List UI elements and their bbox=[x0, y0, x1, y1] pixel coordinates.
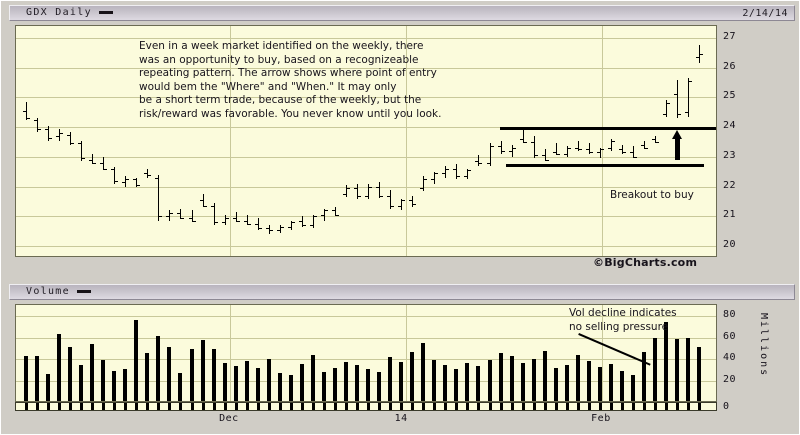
volume-bar bbox=[388, 357, 392, 401]
ohlc-open-tick bbox=[652, 139, 655, 140]
x-tick bbox=[356, 403, 359, 410]
ohlc-open-tick bbox=[288, 227, 291, 228]
volume-axis-label: 60 bbox=[723, 332, 736, 342]
ohlc-open-tick bbox=[67, 135, 70, 136]
ohlc-open-tick bbox=[200, 200, 203, 201]
volume-bar bbox=[410, 352, 414, 401]
ohlc-open-tick bbox=[255, 224, 258, 225]
ohlc-open-tick bbox=[553, 152, 556, 153]
volume-bar bbox=[355, 365, 359, 401]
ohlc-bar bbox=[368, 184, 369, 199]
ohlc-close-tick bbox=[689, 81, 692, 82]
ohlc-open-tick bbox=[542, 155, 545, 156]
volume-axis-label-zero: 0 bbox=[723, 401, 729, 412]
ohlc-open-tick bbox=[45, 129, 48, 130]
x-tick bbox=[345, 403, 348, 410]
price-axis-label: 23 bbox=[723, 151, 736, 161]
ohlc-open-tick bbox=[133, 179, 136, 180]
ohlc-close-tick bbox=[292, 222, 295, 223]
ohlc-close-tick bbox=[325, 210, 328, 211]
price-gridline bbox=[16, 246, 716, 247]
annotation-line: repeating pattern. The arrow shows where… bbox=[139, 67, 441, 81]
x-tick bbox=[279, 403, 282, 410]
price-gridline bbox=[16, 157, 716, 158]
ohlc-open-tick bbox=[674, 94, 677, 95]
ohlc-open-tick bbox=[420, 188, 423, 189]
x-tick bbox=[577, 403, 580, 410]
x-tick bbox=[323, 403, 326, 410]
ohlc-open-tick bbox=[575, 148, 578, 149]
ohlc-open-tick bbox=[509, 151, 512, 152]
ohlc-close-tick bbox=[513, 148, 516, 149]
x-tick bbox=[334, 403, 337, 410]
ohlc-close-tick bbox=[126, 179, 129, 180]
ohlc-close-tick bbox=[468, 170, 471, 171]
price-axis-label: 21 bbox=[723, 210, 736, 220]
volume-bar bbox=[532, 359, 536, 401]
volume-bar bbox=[24, 356, 28, 401]
ohlc-close-tick bbox=[656, 142, 659, 143]
ohlc-open-tick bbox=[685, 112, 688, 113]
month-separator bbox=[602, 26, 603, 256]
x-tick bbox=[466, 403, 469, 410]
annotation-line: was an opportunity to buy, based on a re… bbox=[139, 54, 441, 68]
ohlc-close-tick bbox=[347, 188, 350, 189]
ohlc-bar bbox=[225, 215, 226, 225]
ohlc-close-tick bbox=[159, 216, 162, 217]
x-tick bbox=[555, 403, 558, 410]
ohlc-close-tick bbox=[579, 149, 582, 150]
ohlc-close-tick bbox=[413, 204, 416, 205]
ohlc-open-tick bbox=[442, 173, 445, 174]
ohlc-open-tick bbox=[277, 230, 280, 231]
ohlc-close-tick bbox=[270, 230, 273, 231]
ohlc-close-tick bbox=[115, 181, 118, 182]
ohlc-open-tick bbox=[89, 160, 92, 161]
ohlc-bar bbox=[158, 175, 159, 221]
ohlc-close-tick bbox=[502, 151, 505, 152]
ohlc-close-tick bbox=[71, 143, 74, 144]
ohlc-close-tick bbox=[193, 221, 196, 222]
ohlc-close-tick bbox=[49, 138, 52, 139]
volume-axis-label: 20 bbox=[723, 375, 736, 385]
volume-bar bbox=[112, 371, 116, 401]
volume-bar bbox=[212, 349, 216, 401]
x-tick bbox=[599, 403, 602, 410]
ohlc-close-tick bbox=[204, 206, 207, 207]
x-tick bbox=[301, 403, 304, 410]
x-tick bbox=[202, 403, 205, 410]
x-tick bbox=[588, 403, 591, 410]
volume-bar bbox=[101, 360, 105, 401]
price-axis-label: 25 bbox=[723, 91, 736, 101]
x-tick bbox=[113, 403, 116, 410]
ohlc-bar bbox=[26, 102, 27, 120]
volume-bar bbox=[686, 338, 690, 401]
ohlc-open-tick bbox=[387, 196, 390, 197]
x-tick bbox=[411, 403, 414, 410]
x-tick bbox=[191, 403, 194, 410]
x-tick bbox=[378, 403, 381, 410]
x-axis-tick-strip bbox=[15, 402, 717, 411]
x-tick bbox=[522, 403, 525, 410]
ohlc-close-tick bbox=[336, 215, 339, 216]
volume-bar bbox=[510, 356, 514, 401]
ohlc-open-tick bbox=[23, 111, 26, 112]
x-tick bbox=[687, 403, 690, 410]
ohlc-bar bbox=[346, 185, 347, 197]
ohlc-open-tick bbox=[365, 196, 368, 197]
ohlc-open-tick bbox=[155, 178, 158, 179]
x-tick bbox=[422, 403, 425, 410]
ohlc-bar bbox=[677, 80, 678, 119]
volume-gridline bbox=[16, 359, 716, 360]
annotation-line: Even in a week market identified on the … bbox=[139, 40, 441, 54]
annotation-line: be a short term trade, because of the we… bbox=[139, 94, 441, 108]
ohlc-close-tick bbox=[82, 158, 85, 159]
ohlc-close-tick bbox=[281, 227, 284, 228]
volume-bar bbox=[521, 363, 525, 401]
ohlc-close-tick bbox=[181, 218, 184, 219]
x-axis-label: 14 bbox=[395, 413, 408, 424]
volume-bar bbox=[565, 365, 569, 401]
ohlc-open-tick bbox=[487, 163, 490, 164]
volume-gridline bbox=[16, 338, 716, 339]
x-axis-label: Dec bbox=[219, 413, 239, 424]
ohlc-open-tick bbox=[531, 142, 534, 143]
resistance-line bbox=[500, 127, 716, 130]
ohlc-close-tick bbox=[700, 54, 703, 55]
ohlc-close-tick bbox=[424, 179, 427, 180]
ohlc-open-tick bbox=[586, 149, 589, 150]
ohlc-close-tick bbox=[93, 163, 96, 164]
price-panel-header: GDX Daily 2/14/14 bbox=[9, 5, 795, 21]
ohlc-bar bbox=[169, 210, 170, 220]
ohlc-bar bbox=[147, 169, 148, 178]
volume-bar bbox=[201, 340, 205, 401]
breakout-label: Breakout to buy bbox=[610, 189, 694, 203]
ohlc-close-tick bbox=[215, 222, 218, 223]
x-tick bbox=[643, 403, 646, 410]
volume-panel-header: Volume bbox=[9, 284, 795, 300]
volume-bar bbox=[35, 356, 39, 401]
volume-bar bbox=[675, 339, 679, 401]
price-panel-title: GDX Daily bbox=[10, 8, 113, 18]
ohlc-open-tick bbox=[641, 145, 644, 146]
volume-bar bbox=[333, 368, 337, 401]
volume-axis-units-label: Millions bbox=[758, 313, 769, 377]
volume-bar bbox=[576, 355, 580, 401]
ohlc-close-tick bbox=[137, 185, 140, 186]
ohlc-open-tick bbox=[464, 176, 467, 177]
x-tick bbox=[621, 403, 624, 410]
ohlc-close-tick bbox=[402, 200, 405, 201]
volume-bar bbox=[79, 365, 83, 401]
price-axis-label: 20 bbox=[723, 240, 736, 250]
price-axis-label: 24 bbox=[723, 121, 736, 131]
ohlc-open-tick bbox=[376, 187, 379, 188]
volume-bar bbox=[421, 343, 425, 401]
ohlc-close-tick bbox=[314, 216, 317, 217]
x-tick bbox=[698, 403, 701, 410]
ohlc-close-tick bbox=[226, 218, 229, 219]
x-tick bbox=[610, 403, 613, 410]
ohlc-bar bbox=[688, 78, 689, 117]
ohlc-open-tick bbox=[177, 213, 180, 214]
x-tick bbox=[47, 403, 50, 410]
x-tick bbox=[69, 403, 72, 410]
ohlc-close-tick bbox=[601, 149, 604, 150]
price-gridline bbox=[16, 216, 716, 217]
ohlc-open-tick bbox=[409, 200, 412, 201]
annotation-line: no selling pressure bbox=[569, 320, 677, 334]
ohlc-open-tick bbox=[564, 154, 567, 155]
volume-bar bbox=[443, 365, 447, 401]
x-tick bbox=[224, 403, 227, 410]
volume-bar bbox=[190, 349, 194, 401]
ohlc-open-tick bbox=[498, 146, 501, 147]
ohlc-bar bbox=[445, 166, 446, 178]
ohlc-open-tick bbox=[597, 152, 600, 153]
ohlc-close-tick bbox=[391, 206, 394, 207]
volume-bar bbox=[543, 351, 547, 401]
ohlc-close-tick bbox=[237, 221, 240, 222]
ohlc-close-tick bbox=[667, 103, 670, 104]
ohlc-open-tick bbox=[354, 188, 357, 189]
volume-bar bbox=[587, 361, 591, 401]
ohlc-close-tick bbox=[303, 225, 306, 226]
volume-bar bbox=[554, 368, 558, 401]
ohlc-close-tick bbox=[259, 228, 262, 229]
annotation-line: risk/reward was favorable. You never kno… bbox=[139, 108, 441, 122]
volume-bar bbox=[178, 373, 182, 401]
ohlc-open-tick bbox=[111, 169, 114, 170]
volume-bar bbox=[465, 363, 469, 401]
x-tick bbox=[665, 403, 668, 410]
ohlc-open-tick bbox=[34, 120, 37, 121]
ohlc-close-tick bbox=[678, 114, 681, 115]
ohlc-open-tick bbox=[189, 218, 192, 219]
ohlc-close-tick bbox=[446, 169, 449, 170]
x-tick bbox=[367, 403, 370, 410]
ohlc-open-tick bbox=[475, 161, 478, 162]
ohlc-bar bbox=[478, 155, 479, 165]
volume-bar bbox=[156, 336, 160, 401]
volume-bar bbox=[432, 360, 436, 401]
ohlc-open-tick bbox=[78, 143, 81, 144]
volume-bar bbox=[609, 364, 613, 401]
x-tick bbox=[157, 403, 160, 410]
ohlc-open-tick bbox=[696, 57, 699, 58]
volume-bar bbox=[620, 371, 624, 401]
volume-bar bbox=[454, 369, 458, 401]
ohlc-close-tick bbox=[358, 196, 361, 197]
ohlc-open-tick bbox=[332, 210, 335, 211]
volume-axis-label: 40 bbox=[723, 353, 736, 363]
x-tick bbox=[168, 403, 171, 410]
ohlc-close-tick bbox=[590, 152, 593, 153]
volume-bar bbox=[642, 352, 646, 401]
volume-bar bbox=[123, 369, 127, 401]
ohlc-close-tick bbox=[568, 148, 571, 149]
ohlc-open-tick bbox=[211, 206, 214, 207]
ohlc-open-tick bbox=[266, 228, 269, 229]
support-line bbox=[506, 164, 704, 167]
volume-bar bbox=[134, 320, 138, 401]
ohlc-open-tick bbox=[431, 179, 434, 180]
price-axis-label: 27 bbox=[723, 32, 736, 42]
price-axis-label: 26 bbox=[723, 62, 736, 72]
ohlc-close-tick bbox=[479, 163, 482, 164]
ohlc-close-tick bbox=[491, 146, 494, 147]
volume-bar bbox=[322, 372, 326, 401]
volume-bar bbox=[267, 359, 271, 401]
ohlc-close-tick bbox=[524, 142, 527, 143]
ohlc-open-tick bbox=[343, 194, 346, 195]
volume-bar bbox=[234, 366, 238, 401]
volume-bar bbox=[68, 347, 72, 401]
volume-bar bbox=[476, 366, 480, 401]
price-axis-label: 22 bbox=[723, 181, 736, 191]
ohlc-close-tick bbox=[535, 155, 538, 156]
x-tick bbox=[80, 403, 83, 410]
ohlc-close-tick bbox=[248, 224, 251, 225]
month-separator bbox=[406, 305, 407, 401]
x-tick bbox=[544, 403, 547, 410]
volume-axis-label: 80 bbox=[723, 310, 736, 320]
ohlc-close-tick bbox=[369, 187, 372, 188]
ohlc-open-tick bbox=[122, 182, 125, 183]
x-tick bbox=[433, 403, 436, 410]
bigcharts-watermark: ©BigCharts.com bbox=[593, 256, 697, 269]
volume-bar bbox=[311, 355, 315, 401]
annotation-line: Vol decline indicates bbox=[569, 306, 677, 320]
ohlc-close-tick bbox=[170, 213, 173, 214]
volume-bar bbox=[278, 373, 282, 401]
x-tick bbox=[566, 403, 569, 410]
ohlc-close-tick bbox=[546, 160, 549, 161]
ohlc-open-tick bbox=[619, 149, 622, 150]
ohlc-close-tick bbox=[60, 133, 63, 134]
volume-bar bbox=[399, 362, 403, 401]
ohlc-close-tick bbox=[38, 129, 41, 130]
volume-bar bbox=[697, 347, 701, 401]
ohlc-close-tick bbox=[435, 173, 438, 174]
x-tick bbox=[179, 403, 182, 410]
volume-bar bbox=[245, 361, 249, 401]
x-tick bbox=[477, 403, 480, 410]
ohlc-close-tick bbox=[380, 196, 383, 197]
price-legend-dash bbox=[99, 11, 113, 14]
volume-bar bbox=[300, 364, 304, 401]
x-tick bbox=[135, 403, 138, 410]
volume-bar bbox=[366, 369, 370, 401]
x-tick bbox=[455, 403, 458, 410]
ohlc-bar bbox=[512, 145, 513, 157]
volume-bar bbox=[598, 367, 602, 401]
volume-bar bbox=[46, 374, 50, 401]
ohlc-close-tick bbox=[104, 169, 107, 170]
ohlc-open-tick bbox=[398, 206, 401, 207]
price-gridline bbox=[16, 187, 716, 188]
ohlc-close-tick bbox=[557, 154, 560, 155]
ohlc-open-tick bbox=[663, 114, 666, 115]
volume-bar bbox=[377, 372, 381, 401]
ohlc-close-tick bbox=[27, 118, 30, 119]
x-tick bbox=[36, 403, 39, 410]
chart-window: GDX Daily 2/14/14 Volume 0 Millions Even… bbox=[0, 0, 800, 435]
volume-annotation-text: Vol decline indicatesno selling pressure bbox=[569, 306, 677, 334]
volume-bar bbox=[289, 375, 293, 401]
quote-date: 2/14/14 bbox=[742, 8, 794, 19]
main-annotation-text: Even in a week market identified on the … bbox=[139, 40, 441, 122]
x-tick bbox=[290, 403, 293, 410]
x-tick bbox=[268, 403, 271, 410]
ohlc-close-tick bbox=[645, 148, 648, 149]
x-tick bbox=[400, 403, 403, 410]
x-tick bbox=[91, 403, 94, 410]
ohlc-bar bbox=[412, 196, 413, 208]
x-tick bbox=[389, 403, 392, 410]
x-tick bbox=[25, 403, 28, 410]
ohlc-open-tick bbox=[310, 225, 313, 226]
volume-bar bbox=[488, 360, 492, 401]
entry-arrow-shaft bbox=[675, 137, 680, 160]
x-tick bbox=[102, 403, 105, 410]
x-tick bbox=[257, 403, 260, 410]
volume-bar bbox=[223, 363, 227, 401]
x-tick bbox=[312, 403, 315, 410]
ohlc-close-tick bbox=[634, 157, 637, 158]
ohlc-open-tick bbox=[222, 222, 225, 223]
ohlc-open-tick bbox=[56, 136, 59, 137]
x-tick bbox=[676, 403, 679, 410]
volume-bar bbox=[167, 347, 171, 401]
volume-bar bbox=[631, 375, 635, 401]
ohlc-open-tick bbox=[166, 216, 169, 217]
ohlc-open-tick bbox=[520, 139, 523, 140]
x-tick bbox=[632, 403, 635, 410]
x-tick bbox=[58, 403, 61, 410]
price-gridline bbox=[16, 38, 716, 39]
x-tick bbox=[489, 403, 492, 410]
volume-legend-dash bbox=[77, 290, 91, 293]
ohlc-open-tick bbox=[100, 163, 103, 164]
ohlc-close-tick bbox=[148, 175, 151, 176]
x-axis-label: Feb bbox=[591, 413, 611, 424]
ohlc-close-tick bbox=[612, 141, 615, 142]
volume-bar bbox=[256, 368, 260, 401]
ohlc-open-tick bbox=[299, 221, 302, 222]
ohlc-close-tick bbox=[457, 176, 460, 177]
x-tick bbox=[213, 403, 216, 410]
x-tick bbox=[444, 403, 447, 410]
ohlc-open-tick bbox=[244, 221, 247, 222]
x-tick bbox=[511, 403, 514, 410]
volume-bar bbox=[57, 334, 61, 402]
volume-bar bbox=[653, 338, 657, 401]
ohlc-open-tick bbox=[233, 218, 236, 219]
month-separator bbox=[230, 305, 231, 401]
ohlc-open-tick bbox=[608, 148, 611, 149]
x-tick bbox=[146, 403, 149, 410]
ohlc-bar bbox=[125, 176, 126, 186]
x-tick bbox=[533, 403, 536, 410]
ohlc-open-tick bbox=[144, 173, 147, 174]
x-tick bbox=[124, 403, 127, 410]
x-tick bbox=[235, 403, 238, 410]
x-tick bbox=[654, 403, 657, 410]
